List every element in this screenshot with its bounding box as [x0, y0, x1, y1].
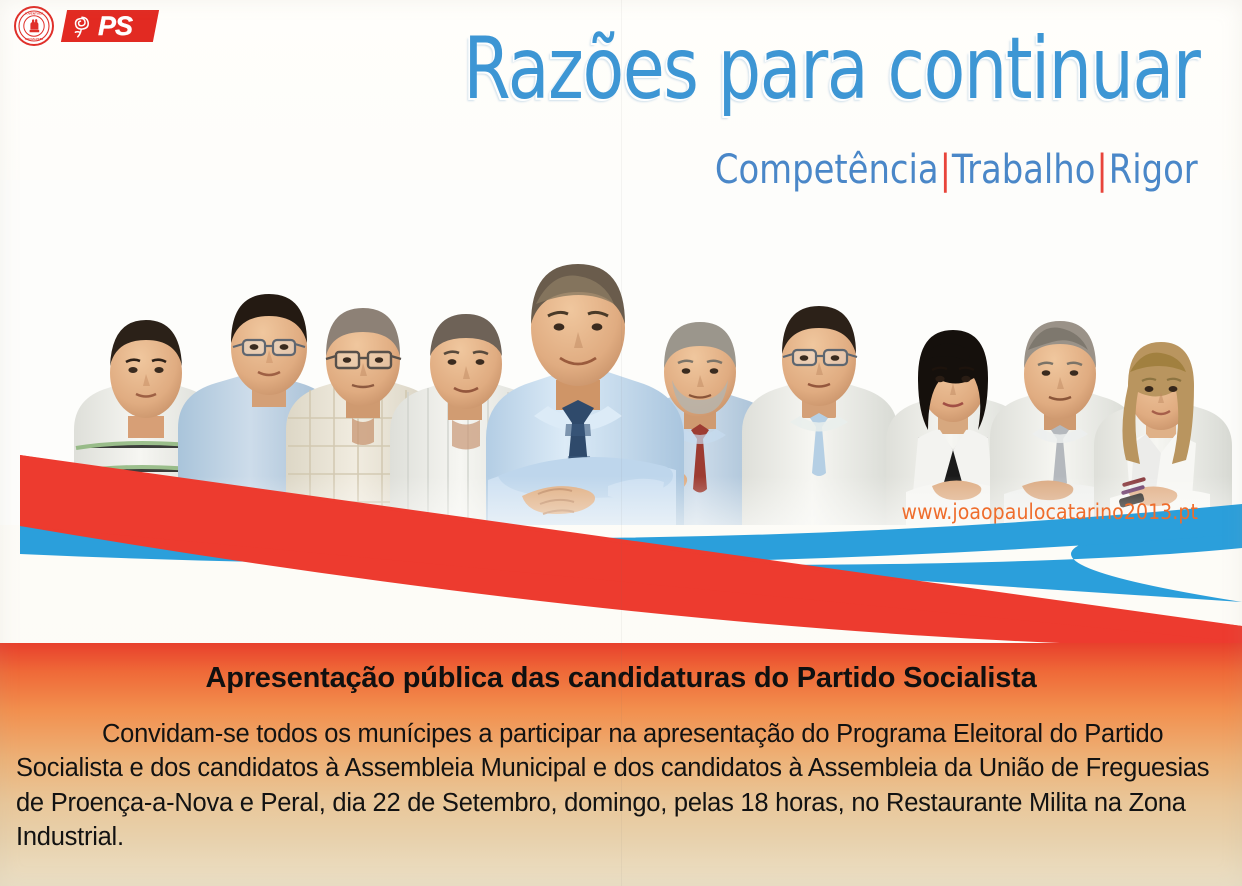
tagline-separator-2: | — [1096, 147, 1109, 193]
svg-text:JUVENTUDE: JUVENTUDE — [25, 12, 44, 16]
ps-party-logo: PS — [61, 10, 159, 42]
campaign-flyer: JUVENTUDE SOCIALISTA PS Razões para cont… — [0, 0, 1242, 886]
rose-icon — [67, 12, 97, 40]
notice-panel: Apresentação pública das candidaturas do… — [0, 643, 1242, 886]
tagline-part-3: Rigor — [1109, 147, 1198, 193]
page-title: Razões para continuar — [464, 26, 1200, 112]
logo-bar: JUVENTUDE SOCIALISTA PS — [14, 6, 156, 46]
tagline-separator-1: | — [939, 147, 952, 193]
tagline-part-1: Competência — [715, 147, 939, 193]
raised-fist-circle-icon: JUVENTUDE SOCIALISTA — [14, 6, 54, 46]
notice-body: Convidam-se todos os munícipes a partici… — [16, 717, 1228, 855]
notice-title: Apresentação pública das candidaturas do… — [0, 663, 1242, 695]
tagline: Competência|Trabalho|Rigor — [715, 150, 1198, 190]
wave-decoration — [0, 430, 1242, 660]
svg-text:SOCIALISTA: SOCIALISTA — [25, 37, 44, 41]
website-url[interactable]: www.joaopaulocatarino2013.pt — [902, 500, 1198, 524]
tagline-part-2: Trabalho — [952, 147, 1095, 193]
ps-initials: PS — [98, 13, 132, 40]
